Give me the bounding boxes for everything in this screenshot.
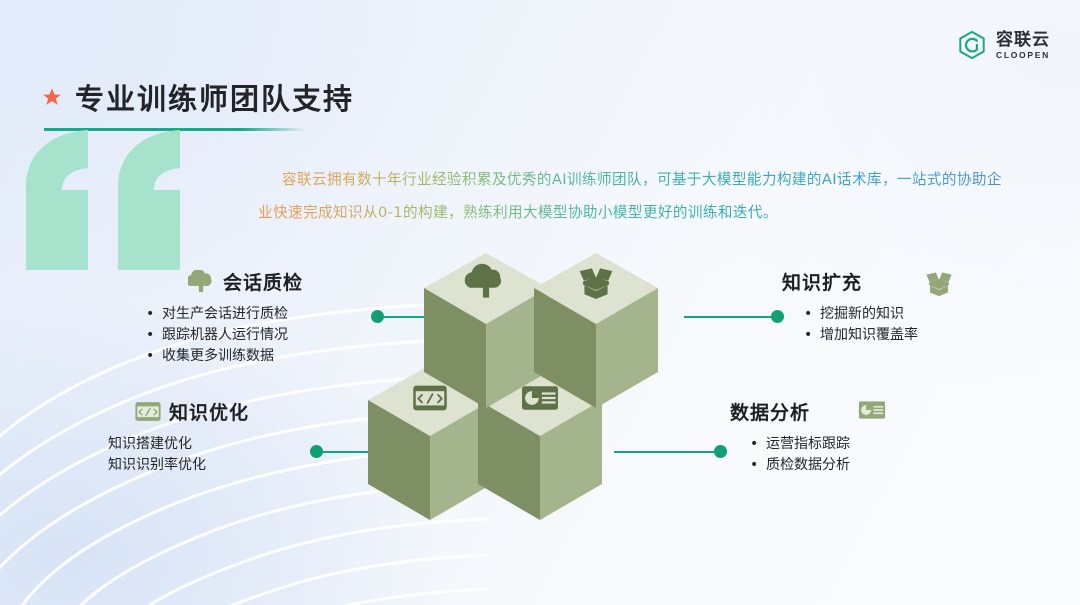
brand-name-en: CLOOPEN [996, 51, 1050, 60]
list-item-label: 增加知识覆盖率 [820, 325, 918, 346]
bullet-dot: • [804, 304, 820, 325]
feature-bullet-list: 知识搭建优化 知识识别率优化 [108, 434, 249, 476]
page-title: 专业训练师团队支持 [75, 76, 354, 118]
pie-chart-report-icon [858, 400, 884, 424]
feature-data-analysis: 数据分析 •运营指标跟踪 •质检数据分析 [730, 398, 884, 476]
list-item-label: 挖掘新的知识 [820, 304, 904, 325]
list-item: •收集更多训练数据 [146, 346, 303, 367]
list-item-label: 知识搭建优化 [108, 434, 192, 455]
brand-logo: 容联云 CLOOPEN [957, 30, 1050, 60]
open-box-icon [924, 270, 950, 294]
list-item-label: 对生产会话进行质检 [162, 304, 288, 325]
feature-quality-inspection: 会话质检 •对生产会话进行质检 •跟踪机器人运行情况 •收集更多训练数据 [124, 268, 303, 367]
star-icon [42, 87, 62, 107]
list-item: •挖掘新的知识 [804, 304, 950, 325]
code-window-icon [134, 400, 160, 424]
cloud-upload-icon [188, 270, 214, 294]
connector-dot-data-analysis [714, 445, 727, 458]
cloopen-hexagon-logo-icon [957, 30, 987, 60]
list-item: •增加知识覆盖率 [804, 325, 950, 346]
bullet-dot: • [750, 434, 766, 455]
feature-bullet-list: •对生产会话进行质检 •跟踪机器人运行情况 •收集更多训练数据 [124, 304, 303, 367]
list-item-label: 运营指标跟踪 [766, 434, 850, 455]
list-item-label: 跟踪机器人运行情况 [162, 325, 288, 346]
feature-knowledge-expansion: 知识扩充 •挖掘新的知识 •增加知识覆盖率 [782, 268, 950, 346]
bullet-dot: • [146, 304, 162, 325]
feature-title: 知识扩充 [782, 268, 862, 295]
quote-paragraph: 容联云拥有数十年行业经验积累及优秀的AI训练师团队，可基于大模型能力构建的AI话… [258, 163, 1002, 229]
feature-title: 知识优化 [169, 398, 249, 425]
list-item-label: 知识识别率优化 [108, 455, 206, 476]
list-item-label: 收集更多训练数据 [162, 346, 274, 367]
feature-title: 数据分析 [730, 398, 810, 425]
brand-name-cn: 容联云 [996, 31, 1050, 48]
list-item: •运营指标跟踪 [750, 434, 884, 455]
bullet-dot: • [146, 346, 162, 367]
bullet-dot: • [146, 325, 162, 346]
list-item: •对生产会话进行质检 [146, 304, 303, 325]
list-item: 知识识别率优化 [108, 455, 249, 476]
feature-bullet-list: •运营指标跟踪 •质检数据分析 [730, 434, 884, 476]
double-quote-icon [18, 128, 198, 270]
feature-knowledge-optimization: 知识优化 知识搭建优化 知识识别率优化 [108, 398, 249, 476]
bullet-dot: • [750, 455, 766, 476]
page-title-block: 专业训练师团队支持 [42, 76, 354, 131]
slide-canvas: 容联云 CLOOPEN 专业训练师团队支持 容联云拥有数十年行业经验积累及优秀的… [0, 0, 1080, 605]
feature-title: 会话质检 [223, 268, 303, 295]
isometric-cube-cluster [368, 248, 712, 538]
list-item: •跟踪机器人运行情况 [146, 325, 303, 346]
list-item: 知识搭建优化 [108, 434, 249, 455]
bullet-dot: • [804, 325, 820, 346]
list-item-label: 质检数据分析 [766, 455, 850, 476]
list-item: •质检数据分析 [750, 455, 884, 476]
feature-bullet-list: •挖掘新的知识 •增加知识覆盖率 [782, 304, 950, 346]
